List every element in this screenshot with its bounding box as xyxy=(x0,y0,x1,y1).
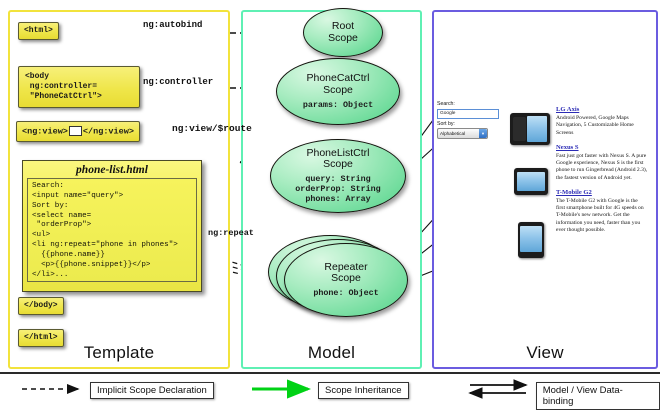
scope-phonecatctrl-props: params: Object xyxy=(303,100,373,110)
phone-listing-list: LG Axis Android Powered, Google Maps Nav… xyxy=(556,106,648,241)
phone-snippet: Android Powered, Google Maps Navigation,… xyxy=(556,115,648,137)
edge-label-autobind: ng:autobind xyxy=(143,20,202,30)
scope-phonecatctrl: PhoneCatCtrlScope params: Object xyxy=(276,58,400,125)
tag-ngview-open-label: <ng:view> xyxy=(22,126,68,136)
list-item: LG Axis Android Powered, Google Maps Nav… xyxy=(556,106,648,137)
phone-screen-icon xyxy=(517,172,545,191)
legend-item-data-binding: Model / View Data-binding xyxy=(468,382,660,410)
scope-repeater-title: RepeaterScope xyxy=(324,262,367,286)
search-input[interactable]: Google xyxy=(437,109,499,119)
phone-thumbnail-2 xyxy=(514,168,548,195)
tag-ngview: <ng:view></ng:view> xyxy=(16,121,140,142)
tag-html-close: </html> xyxy=(18,329,64,347)
code-card-title: phone-list.html xyxy=(23,161,201,178)
chevron-updown-icon: ▾ xyxy=(479,129,487,138)
scope-repeater: RepeaterScope phone: Object xyxy=(284,243,408,317)
tag-ngview-close-label: </ng:view> xyxy=(83,126,134,136)
sort-label: Sort by: xyxy=(437,121,499,128)
legend-item-scope-inheritance: Scope Inheritance xyxy=(250,382,409,399)
phone-snippet: The T-Mobile G2 with Google is the first… xyxy=(556,198,648,234)
panel-model-label: Model xyxy=(243,343,420,363)
diagram-canvas: Template <html> <body ng:controller= "Ph… xyxy=(0,0,660,405)
search-label: Search: xyxy=(437,101,499,108)
phone-snippet: Fast just got faster with Nexus S. A pur… xyxy=(556,153,648,182)
tag-html-open: <html> xyxy=(18,22,59,40)
legend-label: Scope Inheritance xyxy=(318,382,409,399)
phone-name-link[interactable]: LG Axis xyxy=(556,106,648,113)
tag-body-open: <body ng:controller= "PhoneCatCtrl"> xyxy=(18,66,140,108)
scope-phonelistctrl-props: query: StringorderProp: Stringphones: Ar… xyxy=(295,174,380,204)
phone-list-code-card: phone-list.html Search: <input name="que… xyxy=(22,160,202,292)
ngview-slot-icon xyxy=(69,126,82,136)
list-item: T-Mobile G2 The T-Mobile G2 with Google … xyxy=(556,189,648,234)
scope-phonelistctrl: PhoneListCtrlScope query: StringorderPro… xyxy=(270,139,406,213)
phone-keyboard-icon xyxy=(513,117,526,141)
legend-label: Model / View Data-binding xyxy=(536,382,660,410)
edge-label-ngview-route: ng:view/$route xyxy=(172,123,252,134)
phone-screen-icon xyxy=(520,226,542,252)
legend: Implicit Scope Declaration Scope Inherit… xyxy=(0,372,660,407)
phone-name-link[interactable]: T-Mobile G2 xyxy=(556,189,648,196)
legend-label: Implicit Scope Declaration xyxy=(90,382,214,399)
scope-root: RootScope xyxy=(303,8,383,57)
scope-root-title: RootScope xyxy=(328,21,358,45)
scope-repeater-props: phone: Object xyxy=(313,288,378,298)
sort-select[interactable]: Alphabetical▾ xyxy=(437,128,488,139)
panel-view-label: View xyxy=(434,343,656,363)
scope-phonelistctrl-title: PhoneListCtrlScope xyxy=(306,148,369,172)
tag-body-close: </body> xyxy=(18,297,64,315)
list-item: Nexus S Fast just got faster with Nexus … xyxy=(556,144,648,182)
edge-label-ngrepeat: ng:repeat xyxy=(208,228,254,238)
scope-phonecatctrl-title: PhoneCatCtrlScope xyxy=(306,73,369,97)
phone-name-link[interactable]: Nexus S xyxy=(556,144,648,151)
legend-item-implicit-scope: Implicit Scope Declaration xyxy=(22,382,214,399)
search-widget: Search: Google Sort by: Alphabetical▾ xyxy=(437,101,499,139)
sort-select-value: Alphabetical xyxy=(440,131,465,136)
phone-thumbnail-3 xyxy=(518,222,544,258)
phone-thumbnail-1 xyxy=(510,113,550,145)
edge-label-controller: ng:controller xyxy=(143,77,213,87)
phone-screen-icon xyxy=(527,116,547,142)
code-card-body: Search: <input name="query"> Sort by: <s… xyxy=(27,178,197,282)
